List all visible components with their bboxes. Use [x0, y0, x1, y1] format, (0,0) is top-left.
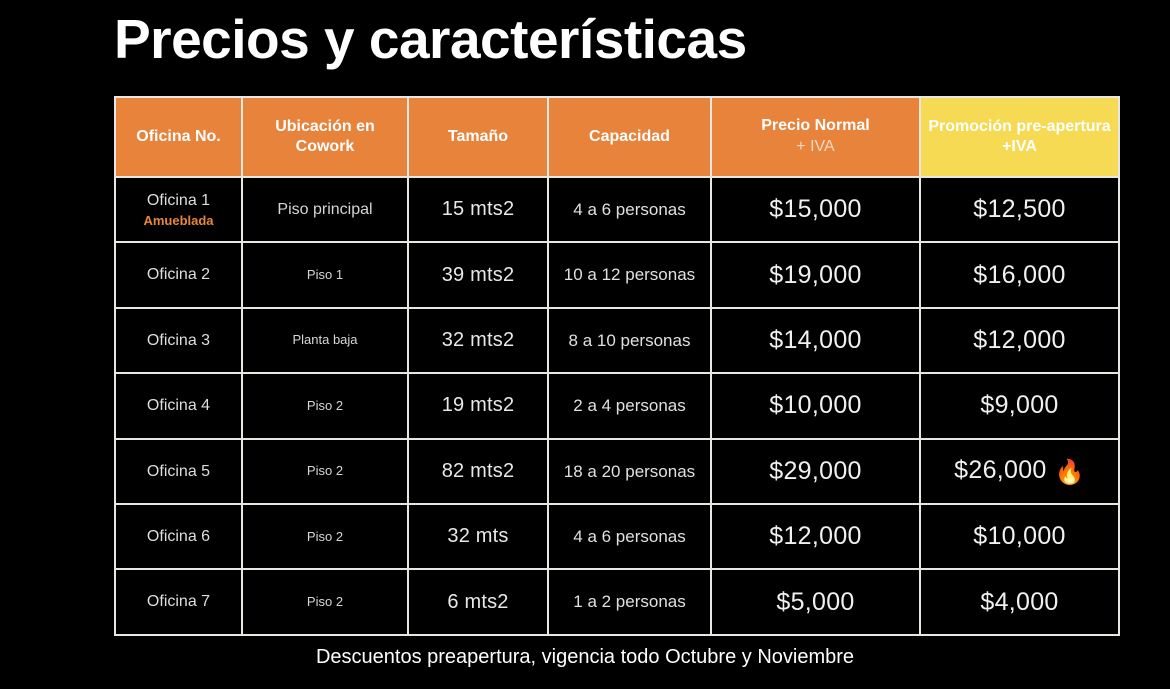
cell-precio-normal: $12,000: [711, 504, 920, 569]
column-header-label: Oficina No.: [136, 128, 220, 145]
table-row: Oficina 4Piso 219 mts22 a 4 personas$10,…: [115, 373, 1119, 438]
cell-capacidad: 1 a 2 personas: [548, 569, 711, 634]
cell-oficina-no: Oficina 1Amueblada: [115, 177, 242, 242]
cell-precio-normal: $14,000: [711, 308, 920, 373]
price-promo-wrapper: $9,000: [980, 391, 1058, 419]
pricing-table: Oficina No. Ubicación en Cowork Tamaño C…: [114, 96, 1120, 636]
price-promo-value: $26,000: [954, 456, 1046, 484]
office-label: Oficina 3: [147, 332, 210, 349]
office-label: Oficina 6: [147, 528, 210, 545]
cell-precio-promocion: $12,000: [920, 308, 1119, 373]
column-header-ubicacion: Ubicación en Cowork: [242, 97, 408, 177]
cell-ubicacion: Piso principal: [242, 177, 408, 242]
size-label: 32 mts: [447, 525, 508, 547]
price-promo-wrapper: $10,000: [973, 522, 1065, 550]
cell-precio-promocion: $10,000: [920, 504, 1119, 569]
cell-oficina-no: Oficina 4: [115, 373, 242, 438]
table-row: Oficina 6Piso 232 mts4 a 6 personas$12,0…: [115, 504, 1119, 569]
price-normal-value: $10,000: [769, 391, 861, 419]
cell-precio-normal: $10,000: [711, 373, 920, 438]
office-label: Oficina 2: [147, 266, 210, 283]
cell-oficina-no: Oficina 7: [115, 569, 242, 634]
capacity-label: 18 a 20 personas: [564, 462, 695, 481]
capacity-label: 1 a 2 personas: [573, 592, 685, 611]
cell-precio-normal: $15,000: [711, 177, 920, 242]
cell-ubicacion: Piso 2: [242, 439, 408, 504]
table-row: Oficina 3Planta baja32 mts28 a 10 person…: [115, 308, 1119, 373]
price-promo-value: $4,000: [980, 588, 1058, 616]
size-label: 82 mts2: [442, 460, 515, 482]
price-normal-value: $12,000: [769, 522, 861, 550]
cell-precio-normal: $5,000: [711, 569, 920, 634]
column-header-label: Ubicación en Cowork: [275, 118, 375, 155]
cell-tamano: 6 mts2: [408, 569, 548, 634]
cell-capacidad: 10 a 12 personas: [548, 242, 711, 307]
price-normal-value: $14,000: [769, 326, 861, 354]
price-promo-value: $12,000: [973, 326, 1065, 354]
column-header-sublabel: + IVA: [718, 137, 913, 158]
slide-root: Precios y características Oficina No. Ub…: [0, 0, 1170, 689]
size-label: 32 mts2: [442, 329, 515, 351]
location-label: Piso 1: [307, 267, 343, 282]
cell-oficina-no: Oficina 2: [115, 242, 242, 307]
cell-precio-promocion: $26,000🔥: [920, 439, 1119, 504]
footer-note: Descuentos preapertura, vigencia todo Oc…: [0, 646, 1170, 669]
cell-ubicacion: Planta baja: [242, 308, 408, 373]
cell-ubicacion: Piso 2: [242, 569, 408, 634]
table-row: Oficina 1AmuebladaPiso principal15 mts24…: [115, 177, 1119, 242]
cell-capacidad: 2 a 4 personas: [548, 373, 711, 438]
price-normal-value: $19,000: [769, 261, 861, 289]
cell-tamano: 39 mts2: [408, 242, 548, 307]
column-header-label: Promoción pre-apertura +IVA: [928, 118, 1110, 155]
cell-oficina-no: Oficina 3: [115, 308, 242, 373]
cell-capacidad: 8 a 10 personas: [548, 308, 711, 373]
cell-oficina-no: Oficina 6: [115, 504, 242, 569]
location-label: Planta baja: [292, 332, 357, 347]
column-header-label: Precio Normal: [761, 117, 869, 134]
size-label: 6 mts2: [447, 591, 508, 613]
capacity-label: 2 a 4 personas: [573, 396, 685, 415]
size-label: 19 mts2: [442, 394, 515, 416]
location-label: Piso 2: [307, 463, 343, 478]
cell-oficina-no: Oficina 5: [115, 439, 242, 504]
price-promo-wrapper: $12,500: [973, 195, 1065, 223]
price-promo-wrapper: $12,000: [973, 326, 1065, 354]
column-header-precio-normal: Precio Normal + IVA: [711, 97, 920, 177]
price-promo-value: $16,000: [973, 261, 1065, 289]
price-normal-value: $29,000: [769, 457, 861, 485]
column-header-tamano: Tamaño: [408, 97, 548, 177]
price-promo-value: $10,000: [973, 522, 1065, 550]
cell-capacidad: 4 a 6 personas: [548, 504, 711, 569]
cell-capacidad: 4 a 6 personas: [548, 177, 711, 242]
column-header-capacidad: Capacidad: [548, 97, 711, 177]
cell-capacidad: 18 a 20 personas: [548, 439, 711, 504]
price-promo-value: $9,000: [980, 391, 1058, 419]
cell-tamano: 15 mts2: [408, 177, 548, 242]
office-label: Oficina 1: [147, 192, 210, 209]
cell-precio-promocion: $4,000: [920, 569, 1119, 634]
price-normal-value: $5,000: [776, 588, 854, 616]
column-header-promocion: Promoción pre-apertura +IVA: [920, 97, 1119, 177]
price-promo-value: $12,500: [973, 195, 1065, 223]
location-label: Piso 2: [307, 529, 343, 544]
column-header-oficina-no: Oficina No.: [115, 97, 242, 177]
capacity-label: 4 a 6 personas: [573, 527, 685, 546]
cell-ubicacion: Piso 2: [242, 373, 408, 438]
capacity-label: 4 a 6 personas: [573, 200, 685, 219]
table-header-row: Oficina No. Ubicación en Cowork Tamaño C…: [115, 97, 1119, 177]
table-row: Oficina 7Piso 26 mts21 a 2 personas$5,00…: [115, 569, 1119, 634]
size-label: 15 mts2: [442, 198, 515, 220]
location-label: Piso 2: [307, 594, 343, 609]
cell-precio-normal: $29,000: [711, 439, 920, 504]
size-label: 39 mts2: [442, 264, 515, 286]
capacity-label: 8 a 10 personas: [569, 331, 691, 350]
price-promo-wrapper: $4,000: [980, 588, 1058, 616]
cell-ubicacion: Piso 2: [242, 504, 408, 569]
cell-precio-promocion: $16,000: [920, 242, 1119, 307]
office-furnished-badge: Amueblada: [122, 213, 235, 229]
office-label: Oficina 4: [147, 397, 210, 414]
cell-precio-promocion: $9,000: [920, 373, 1119, 438]
location-label: Piso principal: [277, 201, 372, 218]
cell-precio-normal: $19,000: [711, 242, 920, 307]
capacity-label: 10 a 12 personas: [564, 265, 695, 284]
cell-tamano: 82 mts2: [408, 439, 548, 504]
cell-ubicacion: Piso 1: [242, 242, 408, 307]
column-header-label: Capacidad: [589, 128, 670, 145]
cell-precio-promocion: $12,500: [920, 177, 1119, 242]
column-header-label: Tamaño: [448, 128, 508, 145]
fire-icon: 🔥: [1055, 459, 1085, 486]
office-label: Oficina 7: [147, 593, 210, 610]
location-label: Piso 2: [307, 398, 343, 413]
cell-tamano: 19 mts2: [408, 373, 548, 438]
pricing-table-container: Oficina No. Ubicación en Cowork Tamaño C…: [114, 96, 1118, 636]
cell-tamano: 32 mts: [408, 504, 548, 569]
office-label: Oficina 5: [147, 463, 210, 480]
price-promo-wrapper: $26,000🔥: [954, 456, 1085, 484]
page-title: Precios y características: [114, 6, 747, 72]
price-normal-value: $15,000: [769, 195, 861, 223]
price-promo-wrapper: $16,000: [973, 261, 1065, 289]
table-header: Oficina No. Ubicación en Cowork Tamaño C…: [115, 97, 1119, 177]
table-row: Oficina 5Piso 282 mts218 a 20 personas$2…: [115, 439, 1119, 504]
table-row: Oficina 2Piso 139 mts210 a 12 personas$1…: [115, 242, 1119, 307]
cell-tamano: 32 mts2: [408, 308, 548, 373]
table-body: Oficina 1AmuebladaPiso principal15 mts24…: [115, 177, 1119, 635]
